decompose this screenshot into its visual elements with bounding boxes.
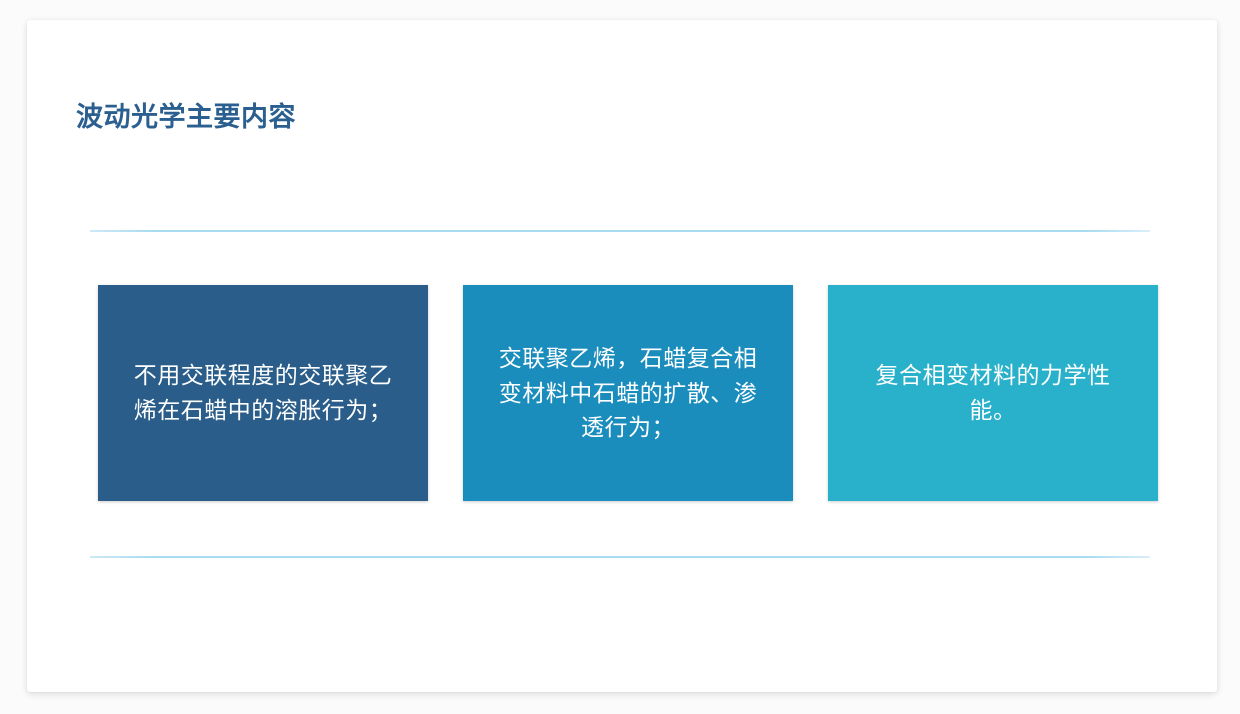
content-box-3[interactable]: 复合相变材料的力学性能。 bbox=[828, 285, 1158, 501]
divider-bottom bbox=[90, 556, 1150, 558]
content-box-2-label: 交联聚乙烯，石蜡复合相变材料中石蜡的扩散、渗透行为； bbox=[489, 341, 767, 446]
content-box-row: 不用交联程度的交联聚乙烯在石蜡中的溶胀行为； 交联聚乙烯，石蜡复合相变材料中石蜡… bbox=[98, 285, 1158, 503]
slide-canvas: 波动光学主要内容 不用交联程度的交联聚乙烯在石蜡中的溶胀行为； 交联聚乙烯，石蜡… bbox=[0, 0, 1240, 714]
content-box-2[interactable]: 交联聚乙烯，石蜡复合相变材料中石蜡的扩散、渗透行为； bbox=[463, 285, 793, 501]
content-box-3-label: 复合相变材料的力学性能。 bbox=[854, 358, 1132, 428]
content-box-1[interactable]: 不用交联程度的交联聚乙烯在石蜡中的溶胀行为； bbox=[98, 285, 428, 501]
divider-top bbox=[90, 230, 1150, 232]
content-box-1-label: 不用交联程度的交联聚乙烯在石蜡中的溶胀行为； bbox=[124, 358, 402, 428]
slide-card: 波动光学主要内容 不用交联程度的交联聚乙烯在石蜡中的溶胀行为； 交联聚乙烯，石蜡… bbox=[27, 20, 1217, 692]
page-title: 波动光学主要内容 bbox=[76, 100, 296, 135]
